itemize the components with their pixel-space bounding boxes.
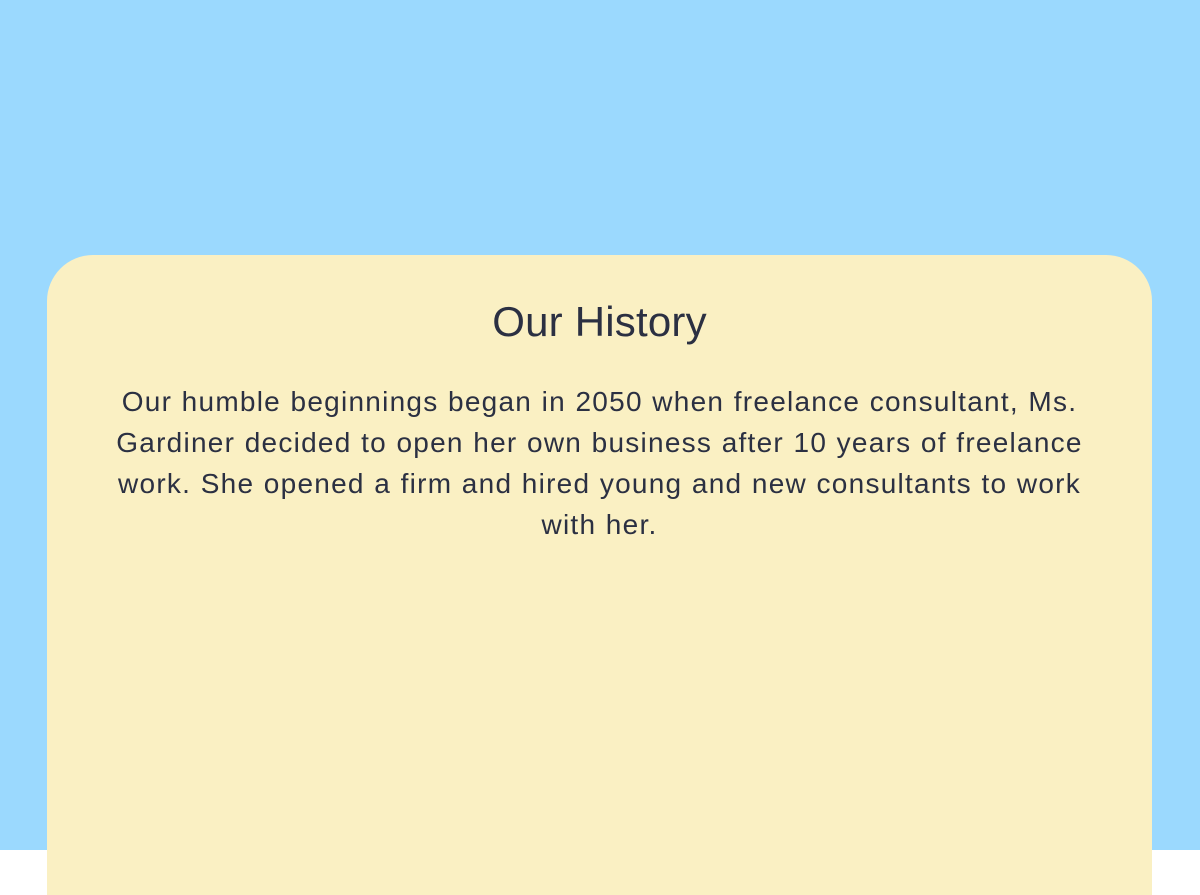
page-root: Our History Our humble beginnings began … (0, 0, 1200, 850)
history-body-text: Our humble beginnings began in 2050 when… (105, 381, 1095, 545)
our-history-card: Our History Our humble beginnings began … (47, 255, 1152, 895)
page-title: Our History (47, 296, 1152, 348)
